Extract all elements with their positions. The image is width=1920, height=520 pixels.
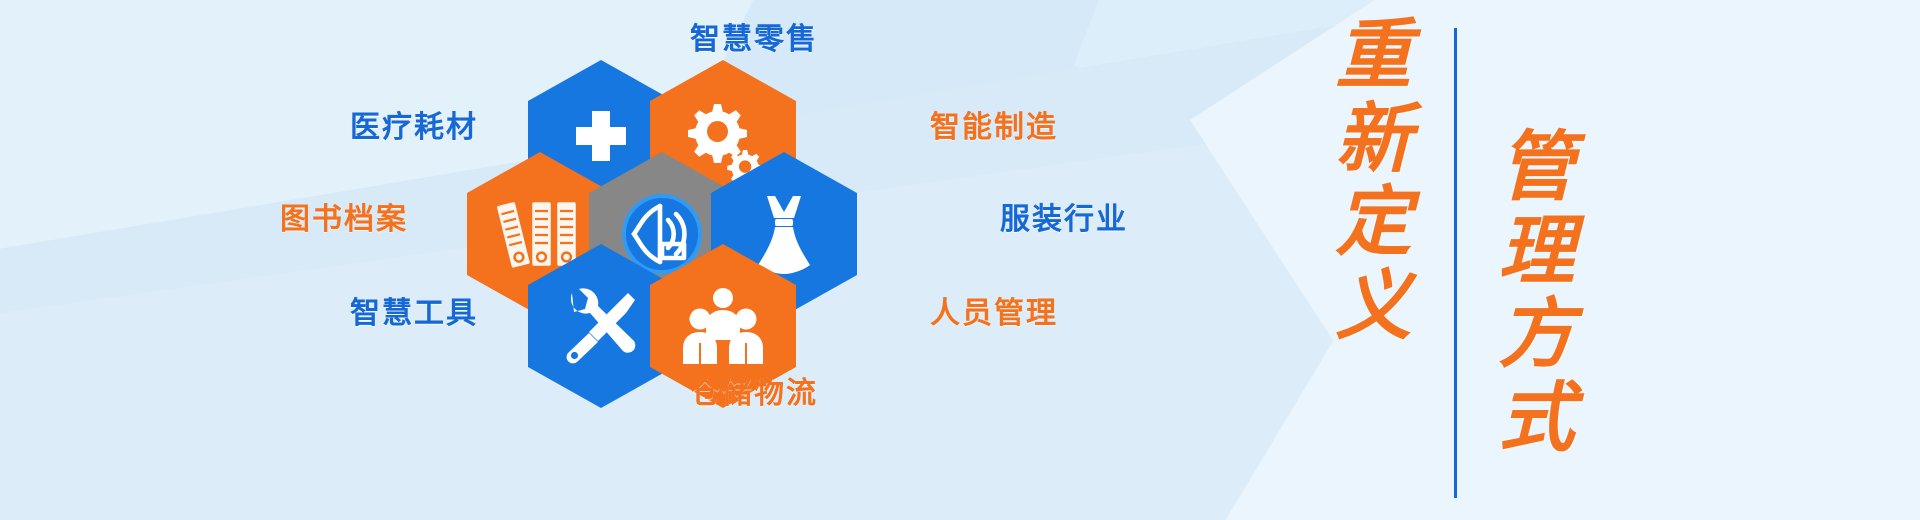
slogan-char: 方 [1499, 297, 1575, 375]
slogan-char: 定 [1336, 185, 1412, 263]
slogan-char: 新 [1336, 102, 1412, 180]
label-apparel-industry[interactable]: 服装行业 [1000, 194, 1128, 238]
label-warehouse-logistics[interactable]: 仓储物流 [690, 368, 818, 412]
label-smart-retail[interactable]: 智慧零售 [690, 14, 818, 58]
label-books-archives[interactable]: 图书档案 [280, 194, 408, 238]
label-smart-manufacturing[interactable]: 智能制造 [930, 102, 1058, 146]
people-group-icon [680, 287, 766, 365]
slogan-divider [1454, 28, 1457, 498]
medical-cross-icon [564, 105, 638, 179]
slogan-column-left: 重 新 定 义 [1308, 10, 1440, 346]
label-medical-supplies[interactable]: 医疗耗材 [350, 102, 478, 146]
promo-banner: 智慧零售 医疗耗材 智能制造 图书档案 服装行业 智慧工具 人员管理 仓储物流 … [0, 0, 1920, 520]
binders-icon [497, 195, 583, 273]
slogan-block: 管 理 方 式 重 新 定 义 [1290, 10, 1620, 510]
label-people-management[interactable]: 人员管理 [930, 288, 1058, 332]
background-decoration [0, 0, 1920, 520]
slogan-char: 理 [1499, 214, 1575, 292]
tools-icon [559, 284, 643, 368]
slogan-char: 义 [1336, 269, 1412, 347]
slogan-column-right: 管 理 方 式 [1471, 10, 1603, 458]
slogan-char: 重 [1336, 18, 1412, 96]
slogan-char: 管 [1499, 130, 1575, 208]
slogan-char: 式 [1499, 381, 1575, 459]
label-smart-tools[interactable]: 智慧工具 [350, 288, 478, 332]
